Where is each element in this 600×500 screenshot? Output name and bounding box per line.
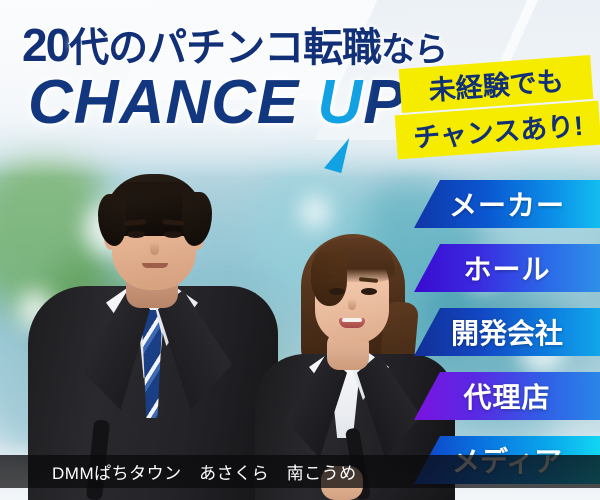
caption-text: DMMぱちタウン あさくら 南こうめ	[52, 459, 357, 484]
recruitment-banner: 20代のパチンコ転職なら CHANCE UP 未経験でも チャンスあり! メーカ…	[0, 0, 600, 500]
menu-item-label: ホール	[463, 248, 550, 288]
category-menu: メーカー ホール 開発会社 代理店 メディア	[0, 0, 600, 500]
menu-item-maker[interactable]: メーカー	[414, 180, 600, 228]
caption-credits: DMMぱちタウン あさくら 南こうめ	[0, 455, 600, 488]
menu-item-label: 代理店	[463, 376, 550, 416]
menu-item-label: メーカー	[449, 184, 565, 224]
menu-item-hall[interactable]: ホール	[414, 244, 600, 292]
menu-item-agency[interactable]: 代理店	[414, 372, 600, 420]
menu-item-development-company[interactable]: 開発会社	[414, 308, 600, 356]
menu-item-label: 開発会社	[451, 312, 563, 352]
